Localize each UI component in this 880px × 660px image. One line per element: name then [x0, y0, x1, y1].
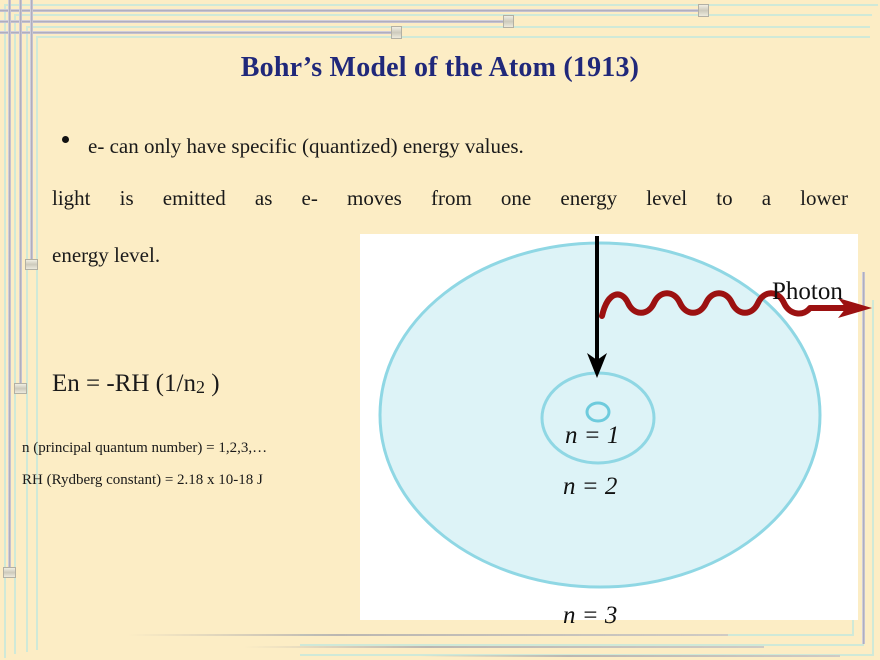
formula-note-quantum-number: n (principal quantum number) = 1,2,3,… [22, 440, 267, 457]
decorative-bottom-line-2 [244, 646, 764, 648]
decorative-rod-cap-left-3 [3, 567, 16, 578]
bohr-model-diagram-svg: n = 1 n = 2 n = 3 [0, 0, 880, 440]
orbit-label-n1: n = 1 [565, 422, 619, 449]
photon-label: Photon [772, 278, 843, 306]
bohr-model-diagram-panel: n = 1 n = 2 n = 3 Photon [360, 234, 858, 620]
formula-note-rydberg-constant: RH (Rydberg constant) = 2.18 x 10-18 J [22, 472, 263, 489]
decorative-bottom-line-3 [420, 655, 840, 657]
slide-canvas: Bohr’s Model of the Atom (1913) e- can o… [0, 0, 880, 660]
orbit-label-n2: n = 2 [563, 473, 617, 500]
decorative-bottom-line-1 [128, 634, 728, 636]
orbit-n3-fill [380, 243, 820, 587]
orbit-label-n3: n = 3 [563, 602, 617, 629]
